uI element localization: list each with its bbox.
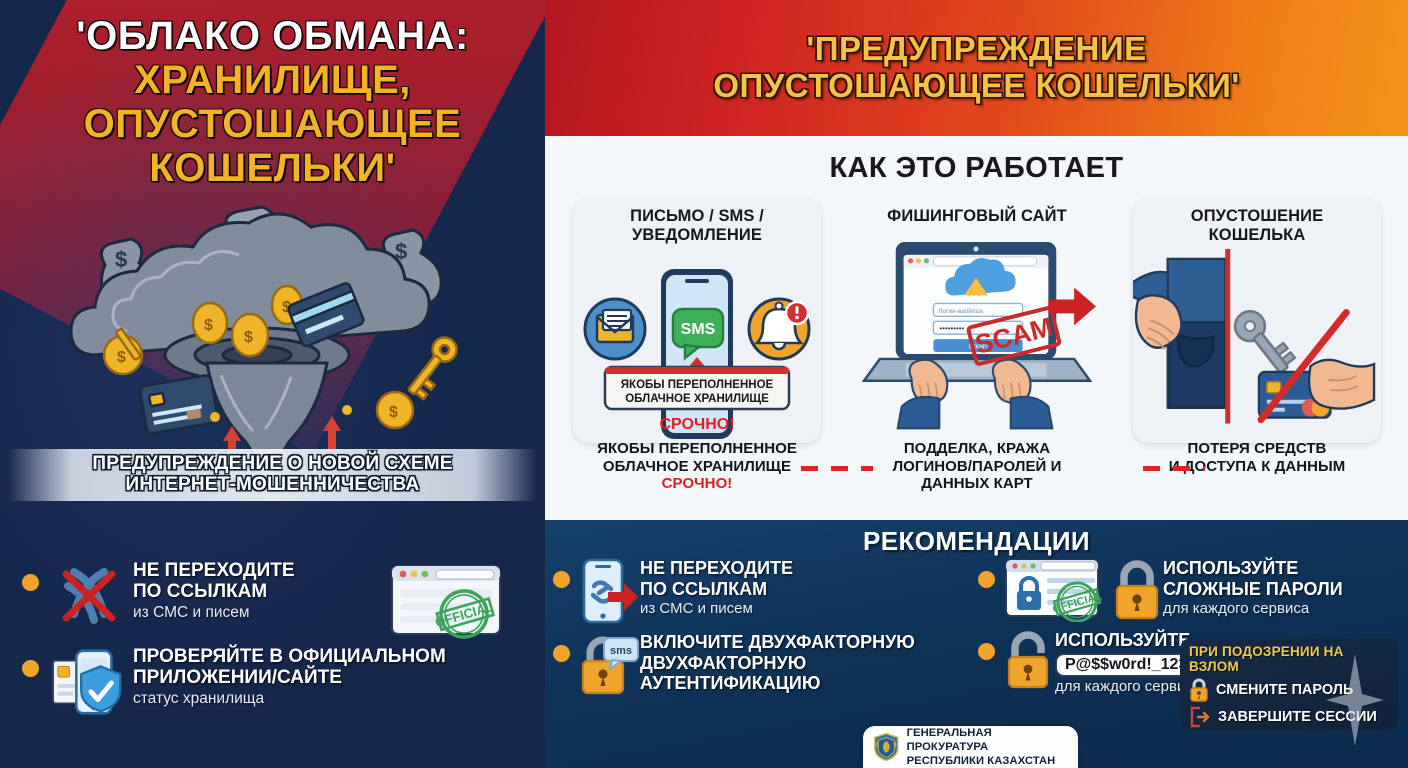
connector-dashes-1 [801,466,873,471]
bullet-dot-icon [978,643,995,660]
step-2-caption: ПОДДЕЛКА, КРАЖА ЛОГИНОВ/ПАРОЛЕЙ И ДАННЫХ… [837,440,1117,493]
breach-alert-box: ПРИ ПОДОЗРЕНИИ НА ВЗЛОМ СМЕНИТЕ ПАРОЛЬ З… [1180,638,1398,730]
tip-line1: НЕ ПЕРЕХОДИТЕ [133,560,295,581]
infographic-root: $ $ $ [0,0,1408,768]
step-3-head-line1: ОПУСТОШЕНИЕ [1191,207,1323,226]
step-1-head-line1: ПИСЬМО / SMS / [630,207,764,226]
step-captions: ЯКОБЫ ПЕРЕПОЛНЕННОЕ ОБЛАЧНОЕ ХРАНИЛИЩЕ С… [557,440,1397,493]
rec-no-links-text: НЕ ПЕРЕХОДИТЕ ПО ССЫЛКАМ из СМС и писем [640,558,793,618]
rec-line1: ВКЛЮЧИТЕ ДВУХФАКТОРНУЮ [640,632,915,653]
right-side: 'ПРЕДУПРЕЖДЕНИЕ ОПУСТОШАЮЩЕЕ КОШЕЛЬКИ' К… [545,0,1408,768]
popup-line1: ЯКОБЫ ПЕРЕПОЛНЕННОЕ [621,379,774,391]
rec-line1: НЕ ПЕРЕХОДИТЕ [640,558,793,579]
rec-line2: ПО ССЫЛКАМ [640,579,793,600]
rec-line1: ИСПОЛЬЗУЙТЕ [1163,558,1343,579]
caption-line1: ЯКОБЫ ПЕРЕПОЛНЕННОЕ [557,440,837,458]
how-it-works-title: КАК ЭТО РАБОТАЕТ [545,152,1408,185]
password-example-chip: P@$$w0rd!_123 [1055,653,1197,677]
official-site-lock-icon: OFFICIAL [1003,558,1111,622]
caption-line3: ДАННЫХ КАРТ [837,475,1117,493]
caption-line2: ЛОГИНОВ/ПАРОЛЕЙ И [837,458,1117,476]
recommendations-panel: РЕКОМЕНДАЦИИ [545,520,1408,768]
svg-text:$: $ [389,404,398,421]
rec-line2: СЛОЖНЫЕ ПАРОЛИ [1163,579,1343,600]
step-2: ФИШИНГОВЫЙ САЙТ [837,198,1117,448]
red-divider [1225,249,1230,424]
crossed-link-icon [51,560,127,626]
tip-line2: ПО ССЫЛКАМ [133,581,295,602]
lock-sms-icon: sms [578,632,640,696]
svg-text:SMS: SMS [681,321,716,338]
right-header-line2: ОПУСТОШАЮЩЕЕ КОШЕЛЬКИ' [713,68,1239,105]
gov-badge-line2: РЕСПУБЛИКИ КАЗАХСТАН [907,754,1068,768]
envelope-mail-icon [585,299,645,359]
sms-badge-label: sms [610,645,632,657]
step-3: ОПУСТОШЕНИЕ КОШЕЛЬКА [1117,198,1397,448]
gov-badge: ГЕНЕРАЛЬНАЯ ПРОКУРАТУРА РЕСПУБЛИКИ КАЗАХ… [863,726,1078,768]
rec-no-links: НЕ ПЕРЕХОДИТЕ ПО ССЫЛКАМ из СМС и писем [553,558,978,624]
connector-dashes-2 [1143,466,1205,471]
empty-pocket-icon [1133,259,1225,408]
step-2-head: ФИШИНГОВЫЙ САЙТ [887,207,1067,226]
right-header-line1: 'ПРЕДУПРЕЖДЕНИЕ [806,31,1146,68]
popup-urgent: СРОЧНО! [659,416,734,433]
step-1-head-line2: УВЕДОМЛЕНИЕ [630,226,764,245]
steps-row: ПИСЬМО / SMS / УВЕДОМЛЕНИЕ [557,198,1397,448]
key-icon [1229,304,1297,378]
bullet-dot-icon [978,571,995,588]
right-header-banner: 'ПРЕДУПРЕЖДЕНИЕ ОПУСТОШАЮЩЕЕ КОШЕЛЬКИ' [545,0,1408,136]
bell-alert-icon [749,299,809,359]
rec-line3: АУТЕНТИФИКАЦИЮ [640,673,915,694]
logout-icon [1189,706,1211,728]
bullet-dot-icon [553,645,570,662]
small-lock-icon [1189,678,1209,702]
caption-line1: ПОТЕРЯ СРЕДСТВ [1117,440,1397,458]
phone-shield-check-icon [51,646,127,718]
bullet-dot-icon [22,660,39,677]
step-3-head-line2: КОШЕЛЬКА [1191,226,1323,245]
phone-link-arrow-icon [578,558,640,624]
step-1-illustration: SMS [573,247,821,443]
step-1-caption: ЯКОБЫ ПЕРЕПОЛНЕННОЕ ОБЛАЧНОЕ ХРАНИЛИЩЕ С… [557,440,837,493]
step-1-head: ПИСЬМО / SMS / УВЕДОМЛЕНИЕ [630,207,764,245]
svg-text:$: $ [204,317,213,334]
popup-line2: ОБЛАЧНОЕ ХРАНИЛИЩЕ [625,393,769,405]
step-3-head: ОПУСТОШЕНИЕ КОШЕЛЬКА [1191,207,1323,245]
caption-line2: ОБЛАЧНОЕ ХРАНИЛИЩЕ [557,458,837,476]
step-2-illustration: Логин-вапйлоа ••••••••• Login [853,240,1101,443]
tip-line2: ПРИЛОЖЕНИИ/САЙТЕ [133,667,446,688]
recommendations-title: РЕКОМЕНДАЦИИ [545,526,1408,557]
caption-line1: ПОДДЕЛКА, КРАЖА [837,440,1117,458]
tip-sub: из СМС и писем [133,604,295,623]
how-it-works-panel: КАК ЭТО РАБОТАЕТ ПИСЬМО / SMS / УВЕДОМЛЕ… [545,136,1408,520]
left-title-line4: КОШЕЛЬКИ' [0,148,545,188]
left-tip-check-official: ПРОВЕРЯЙТЕ В ОФИЦИАЛЬНОМ ПРИЛОЖЕНИИ/САЙТ… [22,646,532,718]
phishing-password-value: ••••••••• [939,324,964,333]
left-title-line2: ХРАНИЛИЩЕ, [0,60,545,100]
padlock-icon [1111,558,1163,620]
rec-line2: ДВУХФАКТОРНУЮ [640,653,915,674]
rec-sub: для каждого сервиса [1163,600,1343,618]
phishing-username-value: Логин-вапйлоа [938,307,983,315]
left-panel: $ $ $ [0,0,545,768]
tip-sub: статус хранилища [133,690,446,709]
gov-badge-line1: ГЕНЕРАЛЬНАЯ ПРОКУРАТУРА [907,726,1068,754]
left-tip-no-links-text: НЕ ПЕРЕХОДИТЕ ПО ССЫЛКАМ из СМС и писем [133,560,295,622]
rec-two-factor: sms ВКЛЮЧИТЕ ДВУХФАКТОРНУЮ ДВУХФАКТОРНУЮ… [553,632,978,696]
step-2-head-line1: ФИШИНГОВЫЙ САЙТ [887,207,1067,226]
sparkle-decor-icon [1326,654,1384,746]
left-warning-banner: ПРЕДУПРЕЖДЕНИЕ О НОВОЙ СХЕМЕ ИНТЕРНЕТ-МО… [8,449,537,501]
caption-urgent: СРОЧНО! [557,475,837,493]
step-3-card: ОПУСТОШЕНИЕ КОШЕЛЬКА [1133,198,1381,443]
left-banner-line1: ПРЕДУПРЕЖДЕНИЕ О НОВОЙ СХЕМЕ [92,454,452,475]
left-title-line1: 'ОБЛАКО ОБМАНА: [0,16,545,56]
step-1-card: ПИСЬМО / SMS / УВЕДОМЛЕНИЕ [573,198,821,443]
rec-sub: из СМС и писем [640,600,793,618]
rec-strong-passwords-text: ИСПОЛЬЗУЙТЕ СЛОЖНЫЕ ПАРОЛИ для каждого с… [1163,558,1343,618]
left-tip-no-links: НЕ ПЕРЕХОДИТЕ ПО ССЫЛКАМ из СМС и писем [22,560,532,626]
rec-strong-passwords: OFFICIAL [978,558,1403,622]
step-2-card: ФИШИНГОВЫЙ САЙТ [853,198,1101,443]
left-banner-line2: ИНТЕРНЕТ-МОШЕННИЧЕСТВА [126,475,420,496]
svg-text:$: $ [117,349,126,366]
rec-two-factor-text: ВКЛЮЧИТЕ ДВУХФАКТОРНУЮ ДВУХФАКТОРНУЮ АУТ… [640,632,915,694]
left-title-line3: ОПУСТОШАЮЩЕЕ [0,104,545,144]
gov-badge-text: ГЕНЕРАЛЬНАЯ ПРОКУРАТУРА РЕСПУБЛИКИ КАЗАХ… [907,726,1068,768]
left-tips-list: НЕ ПЕРЕХОДИТЕ ПО ССЫЛКАМ из СМС и писем [22,560,532,738]
step-3-illustration [1133,249,1381,443]
left-tip-check-official-text: ПРОВЕРЯЙТЕ В ОФИЦИАЛЬНОМ ПРИЛОЖЕНИИ/САЙТ… [133,646,446,708]
bullet-dot-icon [22,574,39,591]
bullet-dot-icon [553,571,570,588]
step-1: ПИСЬМО / SMS / УВЕДОМЛЕНИЕ [557,198,837,448]
prosecutor-shield-emblem-icon [873,732,900,762]
browser-official-stamp-icon: OFFICIAL [390,562,502,649]
recommendations-left-column: НЕ ПЕРЕХОДИТЕ ПО ССЫЛКАМ из СМС и писем [553,558,978,704]
svg-text:$: $ [244,329,253,346]
fake-storage-popup: ЯКОБЫ ПЕРЕПОЛНЕННОЕ ОБЛАЧНОЕ ХРАНИЛИЩЕ [605,357,789,409]
tip-line1: ПРОВЕРЯЙТЕ В ОФИЦИАЛЬНОМ [133,646,446,667]
padlock-open-icon [1003,630,1055,690]
svg-text:$: $ [115,247,127,272]
left-title: 'ОБЛАКО ОБМАНА: ХРАНИЛИЩЕ, ОПУСТОШАЮЩЕЕ … [0,16,545,188]
